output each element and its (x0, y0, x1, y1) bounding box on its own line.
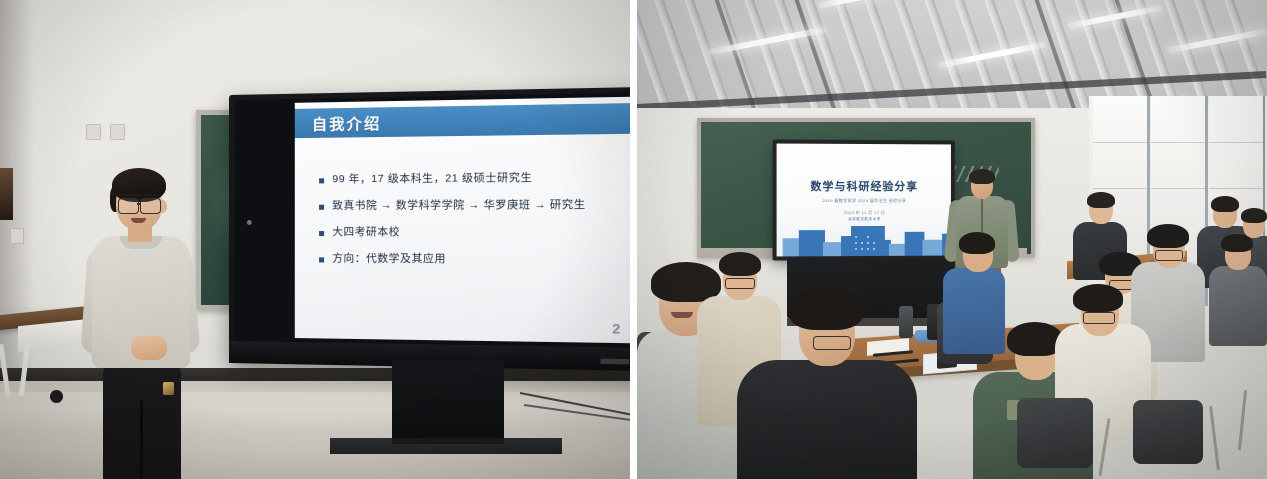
presenter-leg-seam (140, 400, 143, 479)
slide-bullet-list: 99 年，17 级本科生，21 级硕士研究生 致真书院 → 数学科学学院 → 华… (319, 171, 620, 281)
projection-screen: 数学与科研经验分享 2019 级数学科学 2024 届毕业生 经验分享 2024… (773, 139, 955, 260)
tablet-arm-chair (1133, 400, 1203, 464)
projected-slide: 数学与科研经验分享 2019 级数学科学 2024 届毕业生 经验分享 2024… (777, 144, 951, 257)
projected-slide-subtitle-1: 2019 级数学科学 2024 届毕业生 经验分享 (777, 198, 951, 204)
display-stand-neck (392, 360, 504, 444)
slide-bullet: 致真书院 → 数学科学学院 → 华罗庚班 → 研究生 (319, 198, 620, 213)
slide-page-number: 2 (612, 321, 620, 337)
bullet-square-icon (319, 258, 324, 263)
campus-skyline-illustration: 北京航空航天大学 (777, 214, 951, 257)
presenter-brow (120, 194, 158, 196)
slide-bullet-text: 大四考研本校 (332, 226, 400, 239)
water-bottle (899, 306, 913, 338)
presentation-slide: 自我介绍 99 年，17 级本科生，21 级硕士研究生 致真书院 → 数学科学学… (295, 97, 630, 344)
display-sensor-icon (247, 220, 252, 225)
glasses-icon (725, 278, 755, 289)
desk-caster (50, 390, 63, 403)
bullet-square-icon (319, 231, 324, 236)
glasses-icon (1155, 250, 1183, 261)
glasses-icon (140, 198, 161, 214)
smile (671, 312, 693, 318)
two-photo-composite: 自我介绍 99 年，17 级本科生，21 级硕士研究生 致真书院 → 数学科学学… (0, 0, 1267, 479)
presenter-pocket-badge (163, 382, 174, 395)
display-stand-base (330, 438, 562, 454)
projected-slide-title: 数学与科研经验分享 (777, 178, 951, 194)
display-logo (600, 359, 629, 365)
bullet-square-icon (319, 205, 324, 210)
left-photo: 自我介绍 99 年，17 级本科生，21 级硕士研究生 致真书院 → 数学科学学… (0, 0, 630, 479)
glasses-icon (118, 198, 139, 214)
tablet-arm-chair (1017, 398, 1093, 468)
slide-bullet: 大四考研本校 (319, 226, 620, 240)
glasses-bridge (137, 203, 141, 205)
wall-outlet-icon (10, 228, 24, 244)
campus-name: 北京航空航天大学 (777, 217, 951, 222)
bullet-square-icon (319, 178, 324, 183)
presenter-hair (112, 168, 166, 202)
slide-bullet-text: 致真书院 → 数学科学学院 → 华罗庚班 → 研究生 (332, 199, 585, 213)
wall-switch-icon (110, 124, 125, 140)
slide-bullet-text: 99 年，17 级本科生，21 级硕士研究生 (332, 172, 532, 187)
slide-title: 自我介绍 (312, 112, 381, 134)
presenter-hands (131, 336, 167, 360)
slide-bullet: 99 年，17 级本科生，21 级硕士研究生 (319, 171, 620, 187)
slide-bullet: 方向：代数学及其应用 (319, 253, 620, 268)
smart-display: 自我介绍 99 年，17 级本科生，21 级硕士研究生 致真书院 → 数学科学学… (229, 87, 630, 371)
speaker-hair (969, 169, 995, 184)
baseboard (0, 368, 630, 381)
wall-panel (0, 168, 13, 220)
wall-switch-icon (86, 124, 101, 140)
photo-gutter (630, 0, 637, 479)
slide-bullet-text: 方向：代数学及其应用 (332, 253, 446, 267)
floor-sheen (0, 392, 630, 432)
glasses-icon (813, 336, 851, 350)
glasses-icon (1083, 312, 1115, 324)
right-photo: 数学与科研经验分享 2019 级数学科学 2024 届毕业生 经验分享 2024… (637, 0, 1267, 479)
